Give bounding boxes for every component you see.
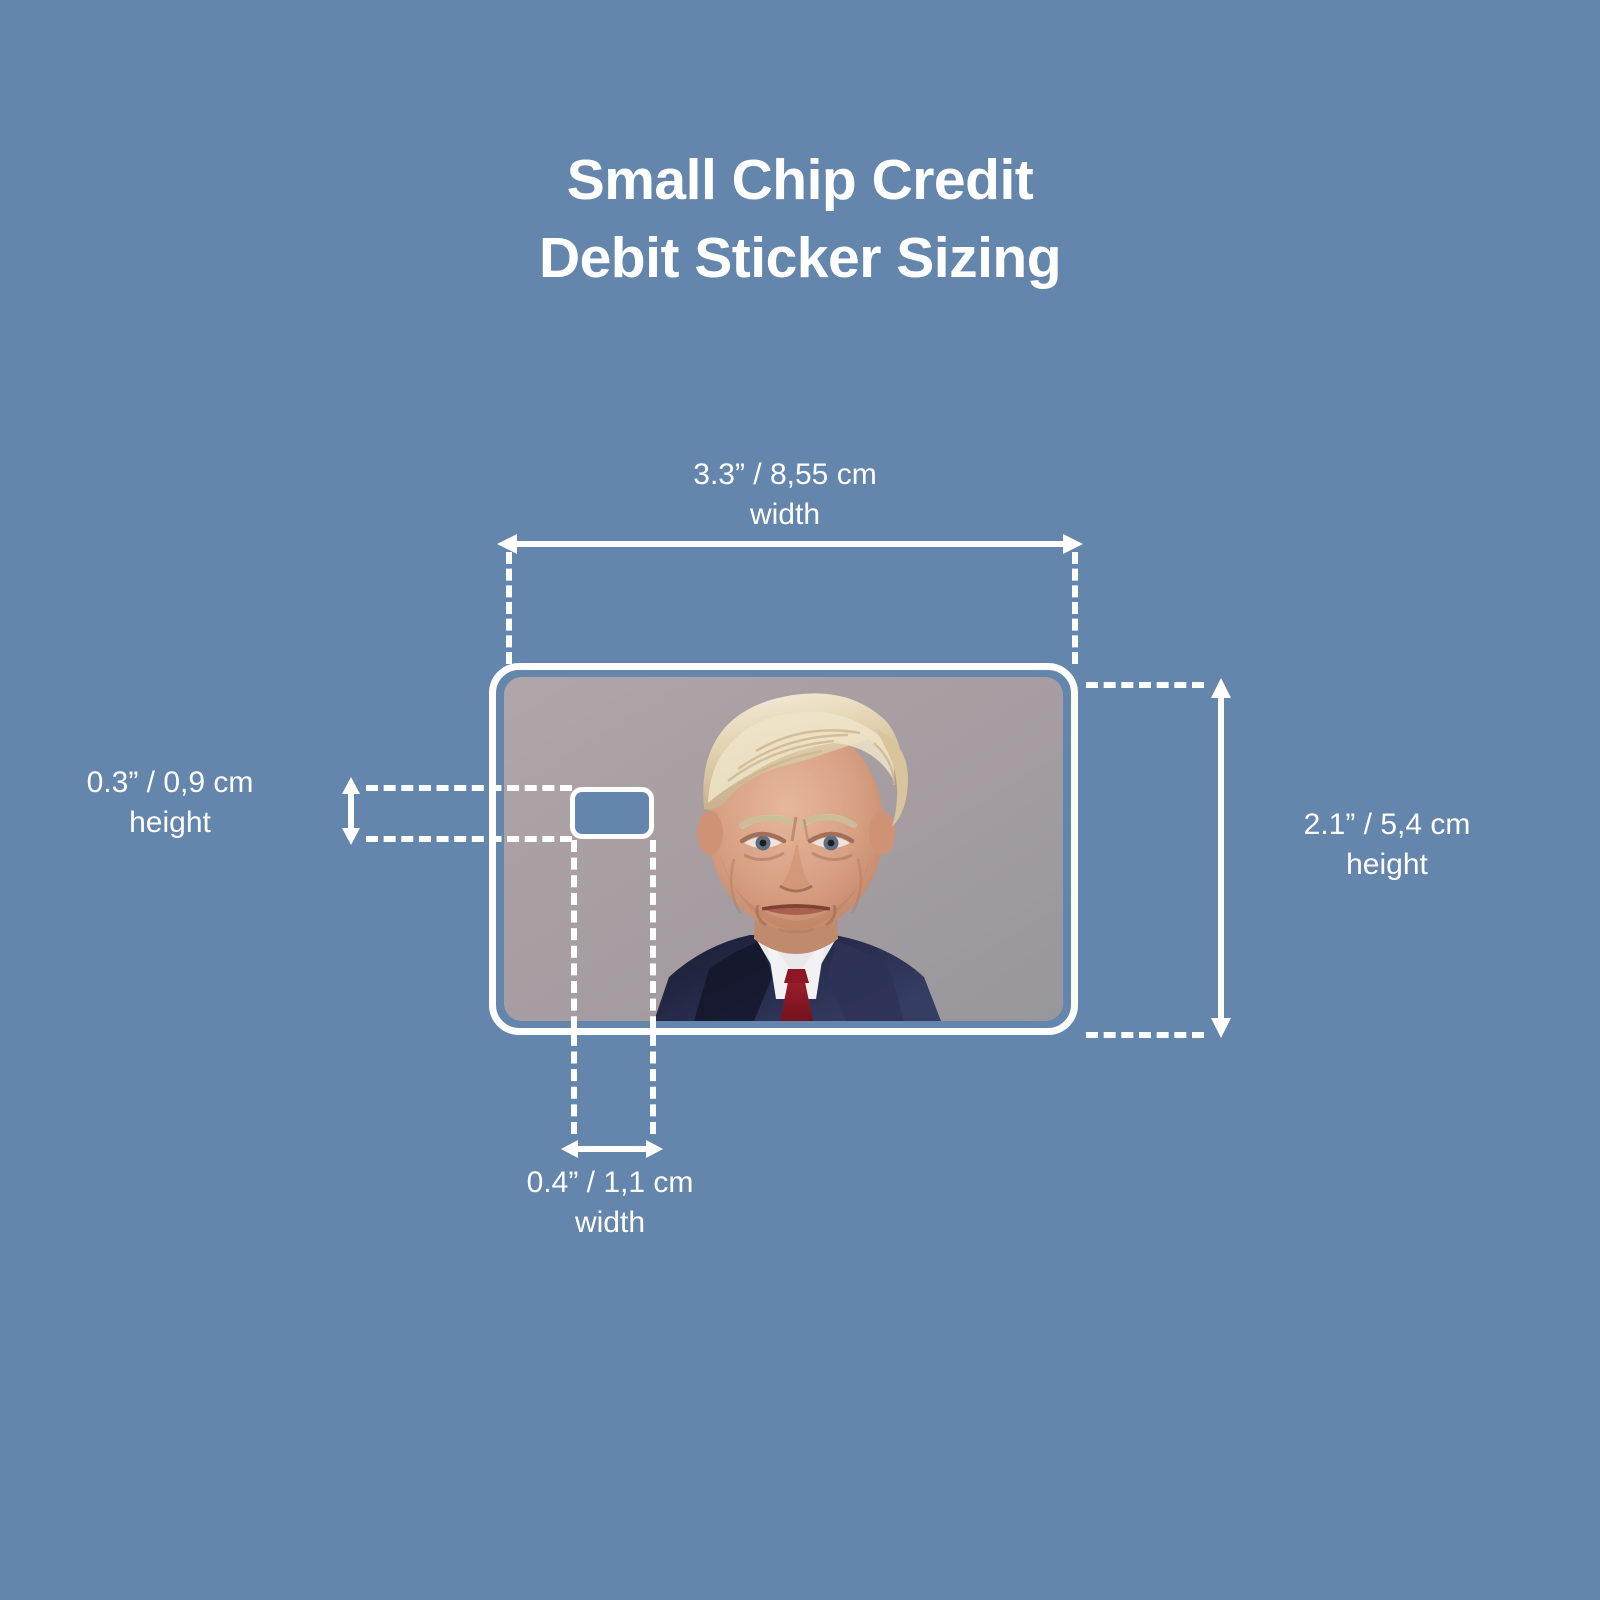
chip-width-label: 0.4” / 1,1 cm width bbox=[430, 1163, 790, 1242]
card-width-extension-right bbox=[1072, 552, 1078, 664]
card-height-label: 2.1” / 5,4 cm height bbox=[1222, 805, 1552, 884]
page-title: Small Chip Credit Debit Sticker Sizing bbox=[0, 142, 1600, 297]
chip-outline bbox=[570, 787, 654, 839]
chip-height-arrow bbox=[335, 776, 367, 846]
sizing-diagram: Small Chip Credit Debit Sticker Sizing 3… bbox=[0, 0, 1600, 1600]
chip-height-extension-top bbox=[366, 785, 572, 791]
chip-height-extension-bottom bbox=[366, 836, 572, 842]
chip-width-extension-left bbox=[571, 840, 577, 1134]
card-width-extension-left bbox=[506, 552, 512, 664]
card-height-extension-bottom bbox=[1086, 1032, 1204, 1038]
card-width-arrow bbox=[495, 528, 1085, 560]
card-height-arrow bbox=[1205, 676, 1237, 1040]
mugshot-portrait-illustration bbox=[504, 677, 1063, 1021]
card-photo bbox=[504, 677, 1063, 1021]
card-width-label: 3.3” / 8,55 cm width bbox=[560, 455, 1010, 534]
chip-width-extension-right bbox=[650, 840, 656, 1134]
chip-width-arrow bbox=[560, 1133, 664, 1165]
chip-height-label: 0.3” / 0,9 cm height bbox=[10, 763, 330, 842]
card-height-extension-top bbox=[1086, 682, 1204, 688]
